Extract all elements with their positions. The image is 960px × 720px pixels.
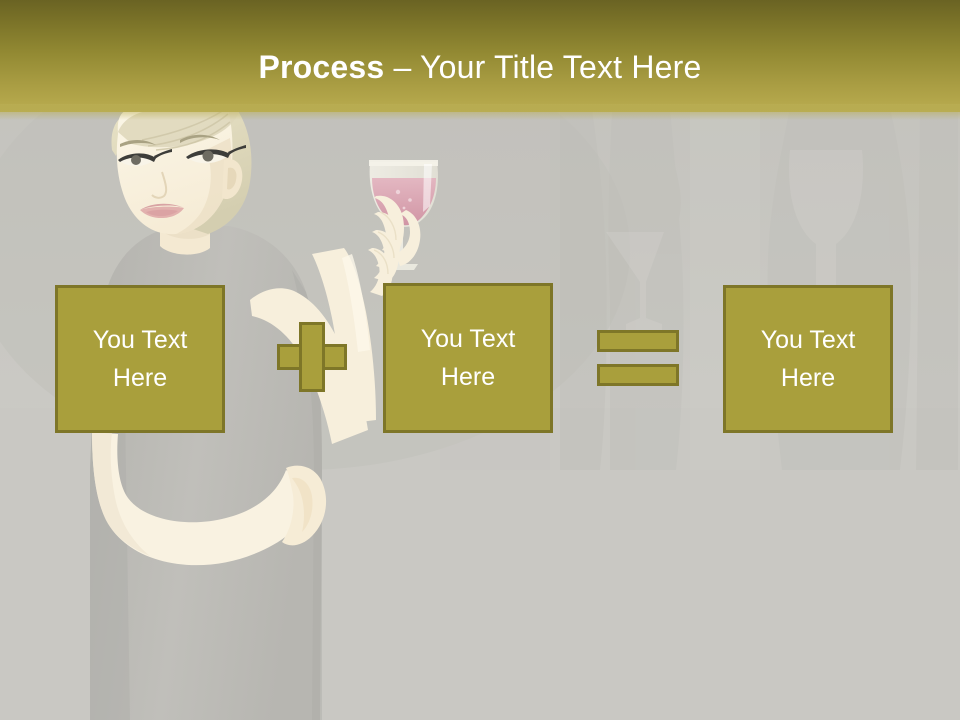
process-box-1-line1: You Text — [93, 321, 188, 359]
process-box-2-line1: You Text — [421, 320, 516, 358]
title-regular-part: Your Title Text Here — [420, 49, 701, 85]
title-separator: – — [384, 49, 420, 85]
title-band-fade — [0, 104, 960, 120]
plus-operator-icon — [277, 322, 347, 392]
equals-top-bar — [597, 330, 679, 352]
page-title: Process – Your Title Text Here — [0, 48, 960, 86]
presentation-slide: Process – Your Title Text Here You Text … — [0, 0, 960, 720]
process-box-3[interactable]: You Text Here — [723, 285, 893, 433]
title-bold-part: Process — [258, 49, 384, 85]
plus-center-fill — [302, 347, 322, 367]
process-box-1-line2: Here — [113, 359, 167, 397]
process-box-3-line1: You Text — [761, 321, 856, 359]
process-box-1[interactable]: You Text Here — [55, 285, 225, 433]
process-box-2-line2: Here — [441, 358, 495, 396]
equals-operator-icon — [597, 330, 679, 386]
process-box-3-line2: Here — [781, 359, 835, 397]
equals-bottom-bar — [597, 364, 679, 386]
process-box-2[interactable]: You Text Here — [383, 283, 553, 433]
